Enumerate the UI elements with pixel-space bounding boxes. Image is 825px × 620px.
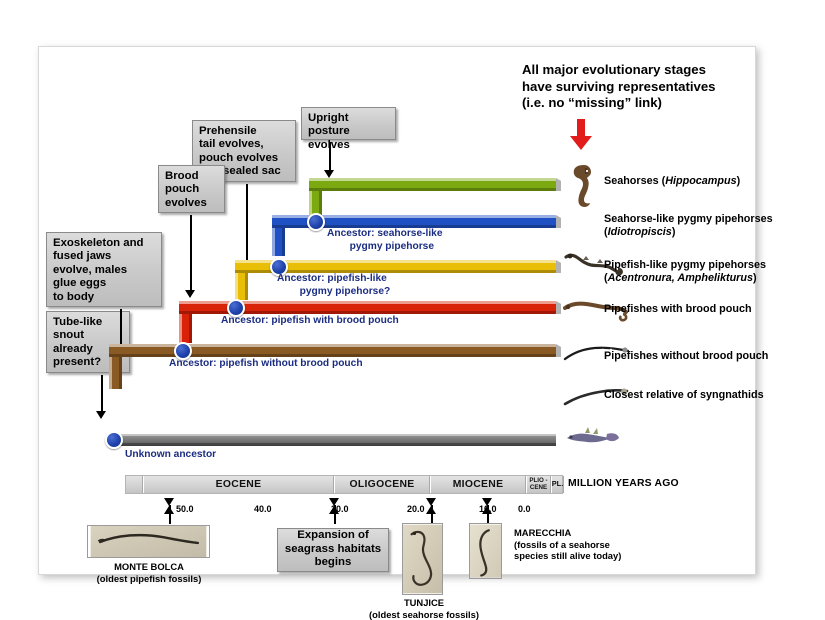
fossil-caption-monte-bolca: MONTE BOLCA (oldest pipefish fossils) bbox=[69, 561, 229, 584]
arrow-prehensile-tail-icon bbox=[241, 184, 252, 268]
epoch-pre-eocene bbox=[126, 476, 144, 493]
callout-upright-posture: Upright posture evolves bbox=[301, 107, 396, 140]
tick-label-40: 40.0 bbox=[254, 504, 272, 514]
taxon-label-seahorses: Seahorses (Hippocampus) bbox=[604, 175, 819, 188]
callout-exoskeleton-text: Exoskeleton and fused jaws evolve, males… bbox=[53, 237, 144, 303]
arrow-upright-posture-icon bbox=[324, 142, 335, 178]
taxon-pipehorse1-main: Seahorse-like pygmy pipehorses bbox=[604, 213, 819, 226]
tick-label-50: 50.0 bbox=[176, 504, 194, 514]
epoch-pleistocene: PL. bbox=[551, 476, 564, 493]
diagram-panel: All major evolutionary stages have survi… bbox=[38, 46, 756, 575]
seahorse-silhouette-icon bbox=[570, 163, 596, 207]
callout-brood-pouch-text: Brood pouch evolves bbox=[165, 170, 207, 209]
marker-arrow-monte-bolca-icon bbox=[164, 498, 175, 524]
tick-label-0: 0.0 bbox=[518, 504, 531, 514]
callout-tube-snout-text: Tube-like snout already present? bbox=[53, 316, 102, 368]
taxon-seahorses-tail: ) bbox=[737, 175, 741, 187]
epoch-eocene: EOCENE bbox=[143, 476, 335, 493]
fossil-photo-tunjice bbox=[402, 523, 443, 595]
headline-line-2: have surviving representatives bbox=[522, 79, 772, 96]
marker-arrow-seagrass-icon bbox=[329, 498, 340, 524]
node-unknown-ancestor[interactable] bbox=[105, 431, 123, 449]
taxon-closest-relative-main: Closest relative of syngnathids bbox=[604, 389, 764, 401]
ancestor-label-unknown: Unknown ancestor bbox=[125, 449, 216, 462]
ancestor-label-seahorse-like: Ancestor: seahorse-like pygmy pipehorse bbox=[327, 228, 443, 253]
taxon-label-closest-relative: Closest relative of syngnathids bbox=[604, 389, 819, 402]
callout-brood-pouch: Brood pouch evolves bbox=[158, 165, 225, 213]
taxon-label-pipefish-like-pipehorses: Pipefish-like pygmy pipehorses (Acentron… bbox=[604, 259, 819, 285]
headline-text: All major evolutionary stages have survi… bbox=[522, 62, 772, 112]
fossil-sub-marecchia: (fossils of a seahorse species still ali… bbox=[514, 539, 654, 562]
callout-seagrass: Expansion of seagrass habitats begins bbox=[277, 528, 389, 572]
taxon-seahorses-main: Seahorses ( bbox=[604, 175, 665, 187]
fossil-photo-marecchia bbox=[469, 523, 502, 579]
fossil-caption-marecchia: MARECCHIA (fossils of a seahorse species… bbox=[514, 527, 654, 562]
node-seahorse-split[interactable] bbox=[307, 213, 325, 231]
taxon-label-pipefishes-with-pouch: Pipefishes with brood pouch bbox=[604, 303, 819, 316]
ancestor-label-pipefish-like: Ancestor: pipefish-like pygmy pipehorse? bbox=[277, 273, 390, 298]
fossil-sub-tunjice: (oldest seahorse fossils) bbox=[339, 609, 509, 620]
epoch-miocene: MIOCENE bbox=[430, 476, 527, 493]
arrow-brood-pouch-icon bbox=[185, 215, 196, 298]
fossil-photo-monte-bolca bbox=[87, 525, 210, 558]
fossil-name-marecchia: MARECCHIA bbox=[514, 527, 654, 539]
callout-exoskeleton: Exoskeleton and fused jaws evolve, males… bbox=[46, 232, 162, 307]
epoch-oligocene: OLIGOCENE bbox=[334, 476, 431, 493]
down-arrow-red-icon bbox=[569, 119, 593, 151]
arrow-tube-snout-icon bbox=[96, 375, 107, 419]
ancestor-label-pipefish-no-pouch: Ancestor: pipefish without brood pouch bbox=[169, 358, 363, 371]
taxon-pipefish-nopouch-main: Pipefishes without brood pouch bbox=[604, 350, 768, 362]
fossil-caption-tunjice: TUNJICE (oldest seahorse fossils) bbox=[339, 597, 509, 620]
taxon-label-seahorse-like-pipehorses: Seahorse-like pygmy pipehorses (Idiotrop… bbox=[604, 213, 819, 239]
fossil-name-monte-bolca: MONTE BOLCA bbox=[69, 561, 229, 573]
headline-line-3: (i.e. no “missing” link) bbox=[522, 95, 772, 112]
marker-arrow-marecchia-icon bbox=[482, 498, 493, 524]
marker-arrow-tunjice-icon bbox=[426, 498, 437, 524]
ancestor-label-pipefish-brood-pouch: Ancestor: pipefish with brood pouch bbox=[221, 315, 399, 328]
closest-relative-silhouette-icon bbox=[563, 425, 621, 451]
fossil-sub-monte-bolca: (oldest pipefish fossils) bbox=[69, 573, 229, 585]
geologic-timeline-bar: EOCENE OLIGOCENE MIOCENE PLIO - CENE PL. bbox=[125, 475, 563, 494]
timeline-axis-label: MILLION YEARS AGO bbox=[568, 478, 679, 489]
callout-seagrass-text: Expansion of seagrass habitats begins bbox=[285, 529, 381, 569]
epoch-pliocene: PLIO - CENE bbox=[526, 476, 552, 493]
taxon-pipehorse2-genus: Acentronura, Amphelikturus bbox=[608, 272, 753, 284]
taxon-label-pipefishes-without-pouch: Pipefishes without brood pouch bbox=[604, 350, 819, 363]
taxon-pipehorse2-main: Pipefish-like pygmy pipehorses bbox=[604, 259, 819, 272]
taxon-seahorses-genus: Hippocampus bbox=[665, 175, 736, 187]
fossil-name-tunjice: TUNJICE bbox=[339, 597, 509, 609]
tick-label-20: 20.0 bbox=[407, 504, 425, 514]
taxon-pipefish-pouch-main: Pipefishes with brood pouch bbox=[604, 303, 752, 315]
headline-line-1: All major evolutionary stages bbox=[522, 62, 772, 79]
taxon-pipehorse1-genus: Idiotropiscis bbox=[608, 226, 672, 238]
lineage-unknown-ancestor bbox=[109, 434, 556, 446]
